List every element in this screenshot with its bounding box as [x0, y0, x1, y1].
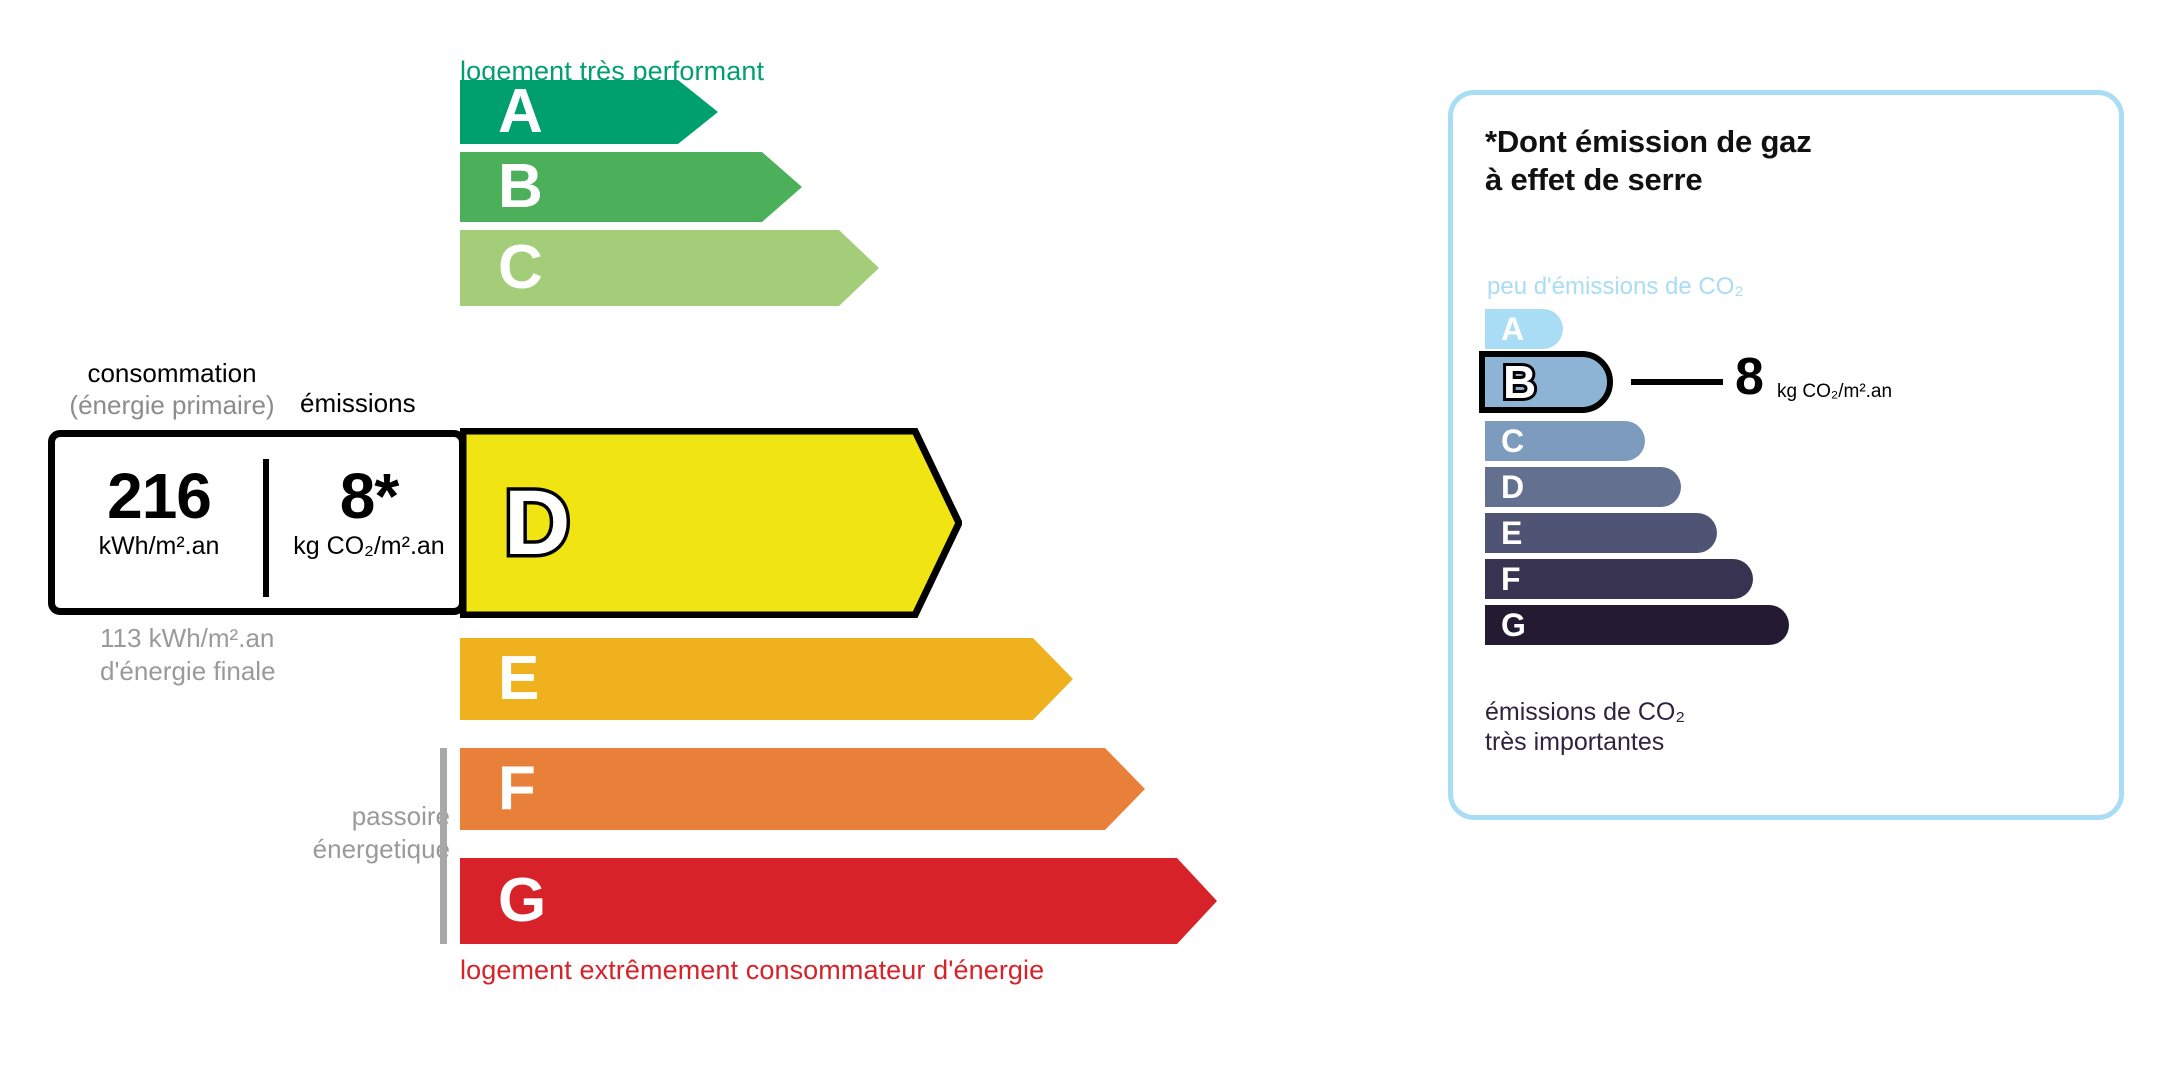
- energy-band-e[interactable]: E: [460, 638, 1073, 720]
- co2-top-caption: peu d'émissions de CO₂: [1487, 273, 1744, 301]
- energy-band-f[interactable]: F: [460, 748, 1145, 830]
- consumption-label-main: consommation: [48, 358, 296, 390]
- energy-band-c[interactable]: C: [460, 230, 879, 306]
- co2-band-b-letter: B: [1503, 359, 1536, 405]
- passoire-energetique-label: passoire énergetique: [270, 800, 450, 865]
- co2-band-d[interactable]: D: [1485, 467, 1681, 507]
- co2-bottom-caption: émissions de CO₂ très importantes: [1485, 697, 1685, 757]
- co2-band-a[interactable]: A: [1485, 309, 1563, 349]
- consumption-value-cell: 216 kWh/m².an: [61, 463, 257, 561]
- band-e-letter: E: [498, 648, 539, 710]
- band-b-letter: B: [498, 156, 543, 218]
- value-box-divider: [263, 459, 269, 597]
- scale-bottom-caption: logement extrêmement consommateur d'éner…: [460, 955, 1044, 986]
- emissions-label: émissions: [300, 388, 416, 419]
- co2-band-f-letter: F: [1501, 563, 1521, 595]
- co2-value-unit: kg CO₂/m².an: [1777, 381, 1892, 403]
- energy-band-b[interactable]: B: [460, 152, 802, 222]
- band-c-letter: C: [498, 237, 543, 299]
- emission-value: 8*: [271, 463, 467, 530]
- co2-band-c-letter: C: [1501, 425, 1524, 457]
- co2-value: 8: [1735, 351, 1764, 403]
- emission-unit: kg CO₂/m².an: [271, 532, 467, 561]
- band-g-letter: G: [498, 870, 546, 932]
- consumption-label: consommation (énergie primaire): [48, 358, 296, 421]
- consumption-value: 216: [61, 463, 257, 530]
- co2-band-f[interactable]: F: [1485, 559, 1753, 599]
- co2-bottom-caption-line-1: émissions de CO₂: [1485, 697, 1685, 727]
- value-box: 216 kWh/m².an 8* kg CO₂/m².an: [48, 430, 466, 615]
- co2-band-a-letter: A: [1501, 313, 1524, 345]
- co2-band-b[interactable]: B: [1479, 351, 1613, 413]
- energy-band-g[interactable]: G: [460, 858, 1217, 944]
- co2-title-line-2: à effet de serre: [1485, 161, 1812, 199]
- co2-value-connector-line: [1631, 379, 1723, 385]
- band-e-shape: [460, 638, 1073, 720]
- passoire-bracket: [440, 748, 447, 944]
- energy-band-a[interactable]: A: [460, 80, 718, 144]
- consumption-label-sub: (énergie primaire): [48, 390, 296, 422]
- final-energy-label: 113 kWh/m².an d'énergie finale: [100, 622, 276, 687]
- band-a-letter: A: [498, 81, 543, 143]
- co2-band-g-letter: G: [1501, 609, 1526, 641]
- final-energy-line-2: d'énergie finale: [100, 655, 276, 688]
- band-f-shape: [460, 748, 1145, 830]
- co2-bottom-caption-line-2: très importantes: [1485, 727, 1685, 757]
- passoire-line-1: passoire: [270, 800, 450, 833]
- passoire-line-2: énergetique: [270, 833, 450, 866]
- band-g-shape: [460, 858, 1217, 944]
- co2-band-e-letter: E: [1501, 517, 1522, 549]
- co2-emissions-panel: *Dont émission de gaz à effet de serre p…: [1448, 90, 2124, 820]
- co2-band-g[interactable]: G: [1485, 605, 1789, 645]
- final-energy-line-1: 113 kWh/m².an: [100, 622, 276, 655]
- co2-band-c[interactable]: C: [1485, 421, 1645, 461]
- emission-value-cell: 8* kg CO₂/m².an: [271, 463, 467, 561]
- band-d-letter: D: [504, 477, 570, 569]
- co2-title-line-1: *Dont émission de gaz: [1485, 123, 1812, 161]
- band-f-letter: F: [498, 758, 536, 820]
- co2-band-d-letter: D: [1501, 471, 1524, 503]
- co2-panel-title: *Dont émission de gaz à effet de serre: [1485, 123, 1812, 199]
- energy-performance-scale: logement très performant A B C D E: [0, 0, 1340, 1079]
- co2-band-e[interactable]: E: [1485, 513, 1717, 553]
- energy-band-d[interactable]: D: [460, 428, 962, 618]
- consumption-unit: kWh/m².an: [61, 532, 257, 561]
